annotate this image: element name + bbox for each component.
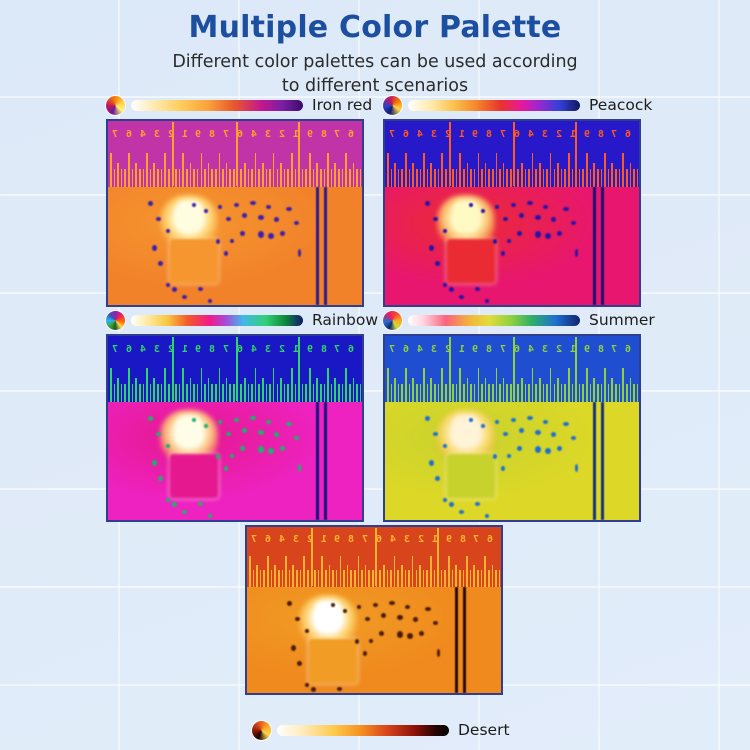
thermal-image-summer: 764321987643219876 bbox=[383, 334, 641, 522]
palette-card-summer[interactable]: Summer 764321987643219876 bbox=[383, 308, 641, 522]
pcb-component-dot bbox=[527, 416, 533, 420]
ruler-digit: 7 bbox=[251, 534, 257, 545]
ruler-digit: 4 bbox=[417, 129, 423, 140]
palette-label: Peacock bbox=[589, 96, 652, 114]
pcb-component-dot bbox=[459, 510, 464, 514]
pcb-component-dot bbox=[413, 617, 418, 622]
pcb-component-dot bbox=[503, 217, 508, 221]
pcb-component-dot bbox=[475, 502, 480, 506]
ruler-digit: 9 bbox=[472, 344, 478, 355]
ruler-digit: 2 bbox=[556, 344, 562, 355]
pcb-component-dot bbox=[250, 416, 256, 420]
pcb-component-dot bbox=[373, 603, 378, 607]
ruler-major-line bbox=[575, 122, 577, 186]
ruler-digit: 3 bbox=[265, 344, 271, 355]
pcb-dark-trace bbox=[324, 187, 327, 305]
thermal-pcb-region bbox=[108, 187, 362, 305]
ruler-digit: 3 bbox=[431, 129, 437, 140]
ruler-major-line bbox=[575, 337, 577, 401]
pcb-component-dot bbox=[519, 213, 524, 218]
page-subtitle-line-1: Different color palettes can be used acc… bbox=[0, 50, 750, 74]
pcb-component-dot bbox=[280, 231, 285, 236]
ruler-digit: 3 bbox=[542, 129, 548, 140]
pcb-component-dot bbox=[234, 418, 239, 422]
ruler-digit: 6 bbox=[625, 129, 631, 140]
pcb-component-dot bbox=[517, 231, 522, 236]
pcb-component-dot bbox=[379, 631, 384, 636]
thermal-ruler-region: 764321987643219876 bbox=[108, 336, 362, 402]
pcb-chip-package bbox=[170, 239, 218, 283]
pcb-component-dot bbox=[405, 605, 410, 609]
pcb-component-dot bbox=[258, 446, 264, 453]
thermal-image-rainbow: 764321987643219876 bbox=[106, 334, 364, 522]
pcb-component-dot bbox=[535, 231, 541, 238]
pcb-component-dot bbox=[280, 446, 285, 451]
ruler-digit: 2 bbox=[279, 344, 285, 355]
ruler-digit: 1 bbox=[182, 344, 188, 355]
palette-card-rainbow[interactable]: Rainbow 764321987643219876 bbox=[106, 308, 364, 522]
thermal-hotspot-core bbox=[315, 601, 341, 631]
pcb-component-dot bbox=[148, 201, 153, 206]
ruler-digit: 7 bbox=[223, 344, 229, 355]
pcb-component-dot bbox=[305, 629, 309, 633]
ruler-digit-row: 764321987643219876 bbox=[108, 125, 362, 145]
ruler-digit: 9 bbox=[472, 129, 478, 140]
thermal-pcb-region bbox=[108, 402, 362, 520]
pcb-component-dot bbox=[224, 251, 228, 256]
pcb-component-dot bbox=[429, 460, 434, 466]
pcb-component-dot bbox=[291, 645, 296, 651]
pcb-component-dot bbox=[226, 217, 231, 221]
pcb-component-dot bbox=[507, 454, 511, 458]
ruler-digit: 8 bbox=[321, 129, 327, 140]
pcb-component-dot bbox=[365, 617, 370, 621]
ruler-digit: 7 bbox=[500, 129, 506, 140]
ruler-major-line bbox=[172, 122, 174, 186]
palette-gradient-bar bbox=[408, 100, 580, 111]
ruler-digit: 4 bbox=[279, 534, 285, 545]
pcb-component-dot bbox=[331, 603, 335, 607]
thermal-image-desert: 764321987643219876 bbox=[245, 525, 503, 695]
pcb-component-dot bbox=[425, 201, 430, 206]
thermal-ruler-region: 764321987643219876 bbox=[385, 336, 639, 402]
pcb-component-dot bbox=[507, 239, 511, 243]
ruler-digit: 1 bbox=[182, 129, 188, 140]
palette-label: Summer bbox=[589, 311, 655, 329]
pcb-component-dot bbox=[551, 217, 556, 222]
pcb-component-dot bbox=[343, 609, 347, 613]
palette-row-middle: Rainbow 764321987643219876 Summer 764321… bbox=[0, 308, 750, 523]
ruler-digit: 3 bbox=[542, 344, 548, 355]
ruler-digit: 9 bbox=[334, 534, 340, 545]
ruler-digit: 7 bbox=[611, 344, 617, 355]
palette-swatch-icon bbox=[106, 96, 125, 115]
pcb-component-dot bbox=[298, 464, 301, 472]
palette-gradient-bar bbox=[277, 725, 449, 736]
pcb-component-dot bbox=[234, 203, 239, 207]
pcb-dark-trace bbox=[463, 587, 466, 693]
ruler-digit: 8 bbox=[598, 344, 604, 355]
ruler-digit: 2 bbox=[279, 129, 285, 140]
pcb-component-dot bbox=[182, 510, 187, 514]
pcb-component-dot bbox=[563, 422, 569, 426]
pcb-component-dot bbox=[503, 432, 508, 436]
palette-card-peacock[interactable]: Peacock 764321987643219876 bbox=[383, 93, 641, 307]
pcb-component-dot bbox=[519, 428, 524, 433]
ruler-digit: 6 bbox=[403, 344, 409, 355]
ruler-digit: 8 bbox=[209, 129, 215, 140]
pcb-chip-package bbox=[447, 454, 495, 498]
pcb-component-dot bbox=[511, 418, 516, 422]
pcb-component-dot bbox=[397, 615, 403, 620]
ruler-digit: 2 bbox=[556, 129, 562, 140]
pcb-component-dot bbox=[240, 446, 245, 451]
ruler-digit: 7 bbox=[611, 129, 617, 140]
palette-gradient-bar bbox=[408, 315, 580, 326]
pcb-component-dot bbox=[274, 217, 279, 222]
ruler-digit: 8 bbox=[460, 534, 466, 545]
palette-legend-iron-red: Iron red bbox=[106, 93, 364, 117]
pcb-component-dot bbox=[557, 231, 562, 236]
pcb-component-dot bbox=[397, 631, 403, 638]
pcb-component-dot bbox=[172, 287, 177, 292]
ruler-digit: 7 bbox=[112, 129, 118, 140]
ruler-digit: 8 bbox=[486, 129, 492, 140]
thermal-hotspot-core bbox=[453, 201, 479, 231]
pcb-component-dot bbox=[242, 213, 247, 218]
ruler-digit: 3 bbox=[404, 534, 410, 545]
pcb-component-dot bbox=[337, 687, 342, 691]
ruler-major-line bbox=[311, 528, 313, 585]
palette-card-desert[interactable]: 764321987643219876 bbox=[245, 523, 503, 695]
pcb-component-dot bbox=[258, 231, 264, 238]
ruler-digit: 4 bbox=[251, 344, 257, 355]
thermal-pcb-region bbox=[385, 187, 639, 305]
pcb-dark-trace bbox=[324, 402, 327, 520]
palette-legend-desert: Desert bbox=[252, 718, 750, 742]
ruler-digit: 3 bbox=[293, 534, 299, 545]
pcb-component-dot bbox=[216, 454, 220, 459]
ruler-digit: 7 bbox=[334, 129, 340, 140]
pcb-component-dot bbox=[158, 261, 163, 266]
pcb-component-dot bbox=[198, 502, 203, 506]
pcb-component-dot bbox=[208, 299, 212, 303]
palette-swatch-icon bbox=[383, 311, 402, 330]
thermal-pcb-region bbox=[247, 587, 501, 693]
pcb-component-dot bbox=[355, 639, 359, 644]
ruler-digit: 8 bbox=[209, 344, 215, 355]
ruler-digit-row: 764321987643219876 bbox=[108, 340, 362, 360]
pcb-component-dot bbox=[294, 436, 299, 440]
pcb-component-dot bbox=[563, 207, 569, 211]
palette-label: Rainbow bbox=[312, 311, 378, 329]
pcb-component-dot bbox=[218, 420, 222, 424]
pcb-component-dot bbox=[369, 639, 373, 643]
thermal-ruler-region: 764321987643219876 bbox=[108, 121, 362, 187]
pcb-component-dot bbox=[443, 498, 447, 502]
pcb-component-dot bbox=[485, 299, 489, 303]
pcb-component-dot bbox=[407, 633, 413, 639]
ruler-digit: 8 bbox=[486, 344, 492, 355]
ruler-digit: 8 bbox=[598, 129, 604, 140]
ruler-digit: 1 bbox=[321, 534, 327, 545]
pcb-component-dot bbox=[226, 432, 231, 436]
thermal-pcb-region bbox=[385, 402, 639, 520]
ruler-digit: 6 bbox=[348, 344, 354, 355]
ruler-digit: 7 bbox=[473, 534, 479, 545]
pcb-dark-trace bbox=[316, 402, 319, 520]
ruler-digit-row: 764321987643219876 bbox=[247, 531, 501, 549]
pcb-component-dot bbox=[449, 287, 454, 292]
ruler-digit: 7 bbox=[334, 344, 340, 355]
palette-row-top: Iron red 764321987643219876 Peacock 7643… bbox=[0, 93, 750, 308]
page-header: Multiple Color Palette Different color p… bbox=[0, 0, 750, 98]
pcb-component-dot bbox=[433, 621, 438, 625]
ruler-major-line bbox=[298, 122, 300, 186]
palette-gradient-bar bbox=[131, 100, 303, 111]
pcb-chip-package bbox=[309, 639, 357, 683]
ruler-major-line bbox=[513, 122, 515, 186]
ruler-major-line bbox=[513, 337, 515, 401]
pcb-component-dot bbox=[571, 436, 576, 440]
palette-legend-desert-wrap: Desert bbox=[0, 718, 750, 742]
pcb-component-dot bbox=[268, 233, 274, 239]
ruler-digit: 4 bbox=[528, 344, 534, 355]
pcb-component-dot bbox=[545, 233, 551, 239]
pcb-component-dot bbox=[297, 661, 302, 666]
pcb-component-dot bbox=[286, 207, 292, 211]
pcb-component-dot bbox=[230, 239, 234, 243]
pcb-component-dot bbox=[535, 446, 541, 453]
ruler-major-line bbox=[449, 122, 451, 186]
ruler-digit: 7 bbox=[389, 344, 395, 355]
pcb-component-dot bbox=[501, 251, 505, 256]
ruler-tick-marks bbox=[247, 552, 501, 587]
palette-swatch-icon bbox=[106, 311, 125, 330]
pcb-component-dot bbox=[459, 295, 464, 299]
ruler-digit: 2 bbox=[418, 534, 424, 545]
pcb-component-dot bbox=[575, 249, 578, 257]
ruler-digit: 7 bbox=[389, 129, 395, 140]
ruler-major-line bbox=[172, 337, 174, 401]
pcb-component-dot bbox=[258, 430, 264, 435]
pcb-component-dot bbox=[298, 249, 301, 257]
palette-card-iron-red[interactable]: Iron red 764321987643219876 bbox=[106, 93, 364, 307]
ruler-digit: 6 bbox=[403, 129, 409, 140]
pcb-component-dot bbox=[166, 283, 170, 287]
ruler-digit-row: 764321987643219876 bbox=[385, 340, 639, 360]
palette-legend-peacock: Peacock bbox=[383, 93, 641, 117]
ruler-major-line bbox=[449, 337, 451, 401]
ruler-digit: 7 bbox=[223, 129, 229, 140]
pcb-component-dot bbox=[511, 203, 516, 207]
pcb-component-dot bbox=[429, 245, 434, 251]
ruler-digit: 9 bbox=[195, 129, 201, 140]
pcb-component-dot bbox=[224, 466, 228, 471]
thermal-hotspot-core bbox=[453, 416, 479, 446]
pcb-component-dot bbox=[311, 687, 316, 692]
pcb-component-dot bbox=[305, 683, 309, 687]
ruler-major-line bbox=[375, 528, 377, 585]
ruler-major-line bbox=[236, 337, 238, 401]
ruler-digit: 4 bbox=[140, 344, 146, 355]
ruler-digit: 9 bbox=[584, 344, 590, 355]
thermal-image-peacock: 764321987643219876 bbox=[383, 119, 641, 307]
ruler-major-line bbox=[437, 528, 439, 585]
palette-label: Desert bbox=[458, 721, 510, 739]
ruler-digit: 9 bbox=[307, 129, 313, 140]
pcb-component-dot bbox=[493, 239, 497, 244]
pcb-component-dot bbox=[266, 420, 271, 424]
ruler-tick-marks bbox=[108, 149, 362, 187]
ruler-digit: 7 bbox=[112, 344, 118, 355]
thermal-hotspot-core bbox=[176, 416, 202, 446]
pcb-component-dot bbox=[425, 416, 430, 421]
ruler-major-line bbox=[236, 122, 238, 186]
ruler-digit: 1 bbox=[459, 344, 465, 355]
pcb-component-dot bbox=[258, 215, 264, 220]
pcb-dark-trace bbox=[316, 187, 319, 305]
ruler-digit: 3 bbox=[154, 344, 160, 355]
pcb-component-dot bbox=[535, 430, 541, 435]
palette-legend-summer: Summer bbox=[383, 308, 641, 332]
pcb-component-dot bbox=[182, 295, 187, 299]
pcb-component-dot bbox=[485, 514, 489, 518]
pcb-dark-trace bbox=[601, 187, 604, 305]
ruler-digit: 8 bbox=[321, 344, 327, 355]
pcb-component-dot bbox=[152, 460, 157, 466]
pcb-component-dot bbox=[493, 454, 497, 459]
pcb-component-dot bbox=[268, 448, 274, 454]
ruler-digit: 6 bbox=[625, 344, 631, 355]
pcb-component-dot bbox=[266, 205, 271, 209]
ruler-digit: 9 bbox=[446, 534, 452, 545]
pcb-component-dot bbox=[294, 221, 299, 225]
pcb-component-dot bbox=[198, 287, 203, 291]
ruler-digit-row: 764321987643219876 bbox=[385, 125, 639, 145]
pcb-component-dot bbox=[535, 215, 541, 220]
thermal-ruler-region: 764321987643219876 bbox=[385, 121, 639, 187]
pcb-component-dot bbox=[218, 205, 222, 209]
ruler-digit: 6 bbox=[265, 534, 271, 545]
pcb-chip-package bbox=[170, 454, 218, 498]
pcb-component-dot bbox=[527, 201, 533, 205]
ruler-tick-marks bbox=[385, 364, 639, 402]
pcb-component-dot bbox=[571, 221, 576, 225]
ruler-digit: 4 bbox=[528, 129, 534, 140]
pcb-component-dot bbox=[363, 651, 367, 656]
pcb-component-dot bbox=[295, 617, 300, 621]
pcb-component-dot bbox=[557, 446, 562, 451]
pcb-component-dot bbox=[152, 245, 157, 251]
ruler-digit: 3 bbox=[154, 129, 160, 140]
pcb-component-dot bbox=[545, 448, 551, 454]
palette-swatch-icon bbox=[252, 721, 271, 740]
pcb-component-dot bbox=[166, 498, 170, 502]
ruler-digit: 9 bbox=[307, 344, 313, 355]
pcb-component-dot bbox=[286, 422, 292, 426]
ruler-digit: 8 bbox=[348, 534, 354, 545]
pcb-component-dot bbox=[230, 454, 234, 458]
ruler-digit: 6 bbox=[126, 344, 132, 355]
pcb-dark-trace bbox=[593, 402, 596, 520]
ruler-digit: 4 bbox=[140, 129, 146, 140]
pcb-component-dot bbox=[158, 476, 163, 481]
pcb-component-dot bbox=[216, 239, 220, 244]
pcb-component-dot bbox=[148, 416, 153, 421]
pcb-component-dot bbox=[250, 201, 256, 205]
pcb-component-dot bbox=[495, 205, 499, 209]
ruler-digit: 4 bbox=[417, 344, 423, 355]
palette-swatch-icon bbox=[383, 96, 402, 115]
pcb-component-dot bbox=[274, 432, 279, 437]
ruler-digit: 9 bbox=[195, 344, 201, 355]
pcb-component-dot bbox=[242, 428, 247, 433]
thermal-image-iron-red: 764321987643219876 bbox=[106, 119, 364, 307]
pcb-component-dot bbox=[449, 502, 454, 507]
ruler-digit: 3 bbox=[431, 344, 437, 355]
pcb-component-dot bbox=[495, 420, 499, 424]
pcb-component-dot bbox=[575, 464, 578, 472]
pcb-component-dot bbox=[287, 601, 292, 606]
pcb-component-dot bbox=[517, 446, 522, 451]
palette-gradient-bar bbox=[131, 315, 303, 326]
pcb-dark-trace bbox=[593, 187, 596, 305]
pcb-component-dot bbox=[443, 283, 447, 287]
pcb-component-dot bbox=[543, 205, 548, 209]
palette-label: Iron red bbox=[312, 96, 372, 114]
pcb-component-dot bbox=[419, 631, 424, 636]
ruler-digit: 6 bbox=[348, 129, 354, 140]
pcb-component-dot bbox=[172, 502, 177, 507]
ruler-tick-marks bbox=[385, 149, 639, 187]
ruler-digit: 4 bbox=[390, 534, 396, 545]
thermal-hotspot-core bbox=[176, 201, 202, 231]
pcb-component-dot bbox=[381, 613, 386, 618]
pcb-component-dot bbox=[437, 649, 440, 657]
pcb-component-dot bbox=[435, 261, 440, 266]
ruler-digit: 1 bbox=[459, 129, 465, 140]
ruler-digit: 3 bbox=[265, 129, 271, 140]
pcb-component-dot bbox=[501, 466, 505, 471]
pcb-component-dot bbox=[475, 287, 480, 291]
pcb-component-dot bbox=[543, 420, 548, 424]
pcb-component-dot bbox=[551, 432, 556, 437]
pcb-component-dot bbox=[389, 601, 395, 605]
pcb-component-dot bbox=[435, 476, 440, 481]
ruler-digit: 9 bbox=[584, 129, 590, 140]
pcb-component-dot bbox=[357, 605, 361, 609]
pcb-component-dot bbox=[425, 607, 431, 611]
palette-row-bottom: 764321987643219876 bbox=[0, 523, 750, 743]
thermal-ruler-region: 764321987643219876 bbox=[247, 527, 501, 587]
pcb-component-dot bbox=[208, 514, 212, 518]
ruler-digit: 6 bbox=[487, 534, 493, 545]
ruler-major-line bbox=[298, 337, 300, 401]
ruler-digit: 6 bbox=[126, 129, 132, 140]
ruler-digit: 7 bbox=[500, 344, 506, 355]
ruler-digit: 7 bbox=[362, 534, 368, 545]
page-title: Multiple Color Palette bbox=[0, 6, 750, 50]
pcb-dark-trace bbox=[455, 587, 458, 693]
ruler-tick-marks bbox=[108, 364, 362, 402]
pcb-component-dot bbox=[240, 231, 245, 236]
palette-legend-rainbow: Rainbow bbox=[106, 308, 364, 332]
pcb-dark-trace bbox=[601, 402, 604, 520]
ruler-digit: 4 bbox=[251, 129, 257, 140]
pcb-chip-package bbox=[447, 239, 495, 283]
